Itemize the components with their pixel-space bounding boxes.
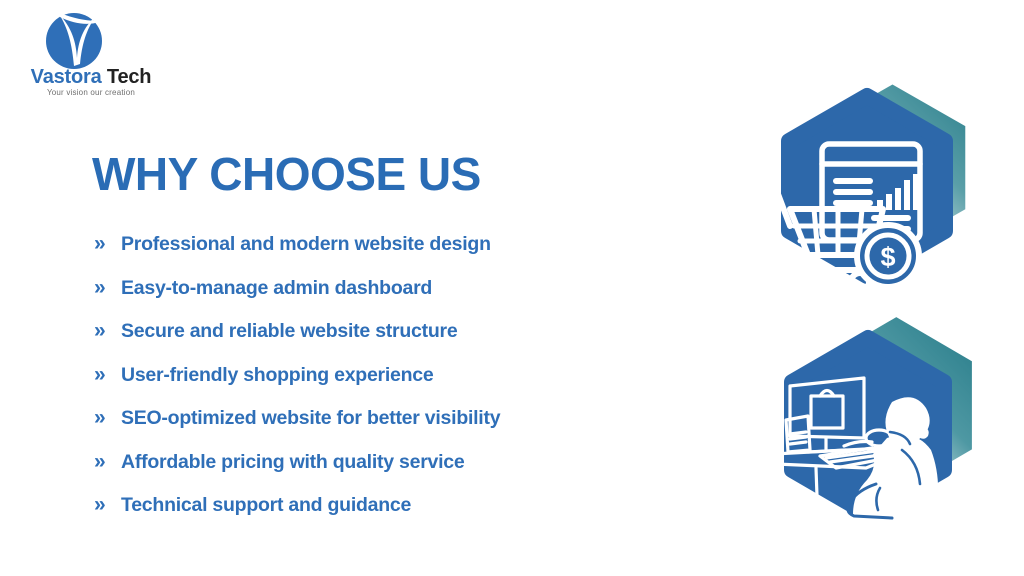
list-item: » Affordable pricing with quality servic…	[94, 451, 674, 495]
online-shopper-hexagon	[716, 298, 1024, 548]
brand-wordmark: Vastora Tech	[16, 66, 166, 89]
list-item-label: Professional and modern website design	[121, 233, 491, 256]
list-item: » Easy-to-manage admin dashboard	[94, 277, 674, 321]
list-item: » Professional and modern website design	[94, 233, 674, 277]
v-swoosh-circle-icon	[38, 8, 110, 70]
list-item-label: Secure and reliable website structure	[121, 320, 457, 343]
svg-text:$: $	[880, 242, 895, 272]
list-item-label: User-friendly shopping experience	[121, 364, 434, 387]
page-title: WHY CHOOSE US	[92, 151, 481, 197]
double-chevron-icon: »	[94, 364, 121, 385]
list-item: » Technical support and guidance	[94, 494, 674, 538]
list-item-label: Easy-to-manage admin dashboard	[121, 277, 432, 300]
list-item-label: Technical support and guidance	[121, 494, 411, 517]
double-chevron-icon: »	[94, 320, 121, 341]
list-item: » SEO-optimized website for better visib…	[94, 407, 674, 451]
list-item-label: Affordable pricing with quality service	[121, 451, 465, 474]
double-chevron-icon: »	[94, 407, 121, 428]
double-chevron-icon: »	[94, 451, 121, 472]
dollar-coin-icon: $	[857, 225, 919, 287]
double-chevron-icon: »	[94, 233, 121, 254]
double-chevron-icon: »	[94, 277, 121, 298]
brand-name-part2: Tech	[107, 66, 151, 88]
ecommerce-dashboard-hexagon: $	[716, 78, 1024, 328]
list-item: » User-friendly shopping experience	[94, 364, 674, 408]
brand-logo: Vastora Tech Your vision our creation	[16, 8, 166, 104]
list-item: » Secure and reliable website structure	[94, 320, 674, 364]
brand-tagline: Your vision our creation	[16, 88, 166, 97]
hexagon-graphics: $	[716, 78, 1024, 560]
benefits-list: » Professional and modern website design…	[94, 233, 674, 538]
brand-name-part1: Vastora	[31, 66, 102, 88]
double-chevron-icon: »	[94, 494, 121, 515]
list-item-label: SEO-optimized website for better visibil…	[121, 407, 500, 430]
